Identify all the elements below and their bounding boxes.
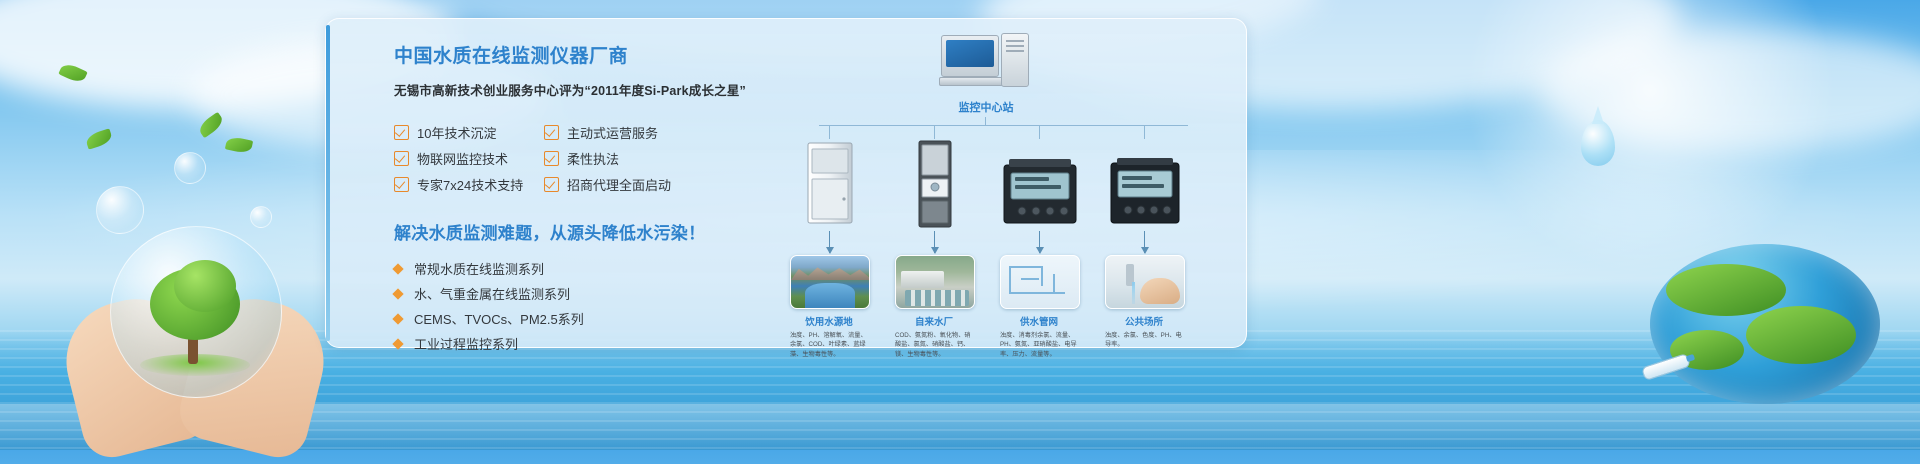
controller-display-icon xyxy=(995,137,1085,229)
hero-text-column: 中国水质在线监测仪器厂商 无锡市高新技术创业服务中心评为“2011年度Si-Pa… xyxy=(394,41,814,356)
down-arrow-icon xyxy=(1144,231,1145,253)
cabinet-analyzer-icon xyxy=(785,137,875,229)
feature-item: 专家7x24技术支持 xyxy=(394,171,544,197)
feature-label: 招商代理全面启动 xyxy=(567,175,671,194)
landmass-shape xyxy=(1746,306,1856,364)
checkbox-checked-icon xyxy=(394,177,409,192)
product-label: 水、气重金属在线监测系列 xyxy=(414,284,570,303)
feature-item: 10年技术沉淀 xyxy=(394,119,544,145)
scenario-parameters: COD、氨氮粉、氧化物、硝酸盐、氯氮、硝酸盐、钙、镁、生物毒性等。 xyxy=(895,331,973,359)
feature-label: 物联网监控技术 xyxy=(417,149,508,168)
product-item[interactable]: 水、气重金属在线监测系列 xyxy=(394,281,814,306)
hero-subtitle: 无锡市高新技术创业服务中心评为“2011年度Si-Park成长之星” xyxy=(394,80,814,99)
scenario-parameters: 浊度、PH、溶解氧、流量、余氯、COD、叶绿素、蓝绿藻、生物毒性等。 xyxy=(790,331,868,359)
product-item[interactable]: 工业过程监控系列 xyxy=(394,331,814,356)
bubble-shape xyxy=(250,206,272,228)
product-item[interactable]: 常规水质在线监测系列 xyxy=(394,256,814,281)
controller-panel-icon xyxy=(1100,137,1190,229)
feature-item: 物联网监控技术 xyxy=(394,145,544,171)
diamond-bullet-icon xyxy=(392,263,403,274)
checkbox-checked-icon xyxy=(394,151,409,166)
product-label: 常规水质在线监测系列 xyxy=(414,259,544,278)
scenario-label: 饮用水源地 xyxy=(790,314,868,328)
down-arrow-icon xyxy=(934,231,935,253)
rack-analyzer-icon xyxy=(890,137,980,229)
feature-item: 柔性执法 xyxy=(544,145,694,171)
public-tap-photo xyxy=(1105,255,1185,309)
checkbox-checked-icon xyxy=(544,177,559,192)
panel-accent-bar xyxy=(326,25,330,341)
scenario-label: 供水管网 xyxy=(1000,314,1078,328)
scenario-label: 公共场所 xyxy=(1105,314,1183,328)
green-earth-illustration xyxy=(1650,244,1880,404)
monitoring-system-diagram: 监控中心站 xyxy=(781,33,1226,343)
product-list: 常规水质在线监测系列 水、气重金属在线监测系列 CEMS、TVOCs、PM2.5… xyxy=(394,256,814,356)
hero-panel: 中国水质在线监测仪器厂商 无锡市高新技术创业服务中心评为“2011年度Si-Pa… xyxy=(325,18,1247,348)
computer-workstation-icon xyxy=(941,35,1033,89)
feature-item: 主动式运营服务 xyxy=(544,119,694,145)
tree-foliage-top xyxy=(174,260,236,312)
checkbox-checked-icon xyxy=(544,125,559,140)
feature-item: 招商代理全面启动 xyxy=(544,171,694,197)
diamond-bullet-icon xyxy=(392,338,403,349)
drinking-water-source-photo xyxy=(790,255,870,309)
feature-checklist: 10年技术沉淀 主动式运营服务 物联网监控技术 柔性执法 专家7x24技术支持 … xyxy=(394,119,694,197)
scenario-card[interactable]: 公共场所 浊度、余氯、色度、PH、电导率。 xyxy=(1105,255,1183,350)
keyboard-shape xyxy=(939,77,1003,86)
product-item[interactable]: CEMS、TVOCs、PM2.5系列 xyxy=(394,306,814,331)
water-plant-photo xyxy=(895,255,975,309)
feature-label: 主动式运营服务 xyxy=(567,123,658,142)
product-label: CEMS、TVOCs、PM2.5系列 xyxy=(414,309,584,328)
page-title: 中国水质在线监测仪器厂商 xyxy=(394,41,814,68)
scenario-card[interactable]: 饮用水源地 浊度、PH、溶解氧、流量、余氯、COD、叶绿素、蓝绿藻、生物毒性等。 xyxy=(790,255,868,359)
product-label: 工业过程监控系列 xyxy=(414,334,518,353)
down-arrow-icon xyxy=(829,231,830,253)
feature-label: 柔性执法 xyxy=(567,149,619,168)
bubble-shape xyxy=(174,152,206,184)
pipe-network-diagram-photo xyxy=(1000,255,1080,309)
landmass-shape xyxy=(1666,264,1786,316)
scenario-card[interactable]: 供水管网 浊度、消毒剂余氯、流量、PH、氨氮、亚硝酸盐、电导率、压力、流量等。 xyxy=(1000,255,1078,359)
hand-under-tap xyxy=(1140,278,1180,304)
checkbox-checked-icon xyxy=(544,151,559,166)
water-droplet-icon xyxy=(1581,120,1615,166)
hands-holding-tree-illustration xyxy=(70,250,320,450)
checkbox-checked-icon xyxy=(394,125,409,140)
bubble-shape xyxy=(96,186,144,234)
section-headline: 解决水质监测难题，从源头降低水污染！ xyxy=(394,219,814,244)
diagram-bus-line xyxy=(819,125,1188,126)
feature-label: 10年技术沉淀 xyxy=(417,123,496,142)
feature-label: 专家7x24技术支持 xyxy=(417,175,523,194)
scenario-parameters: 浊度、消毒剂余氯、流量、PH、氨氮、亚硝酸盐、电导率、压力、流量等。 xyxy=(1000,331,1078,359)
scenario-card[interactable]: 自来水厂 COD、氨氮粉、氧化物、硝酸盐、氯氮、硝酸盐、钙、镁、生物毒性等。 xyxy=(895,255,973,359)
scenario-parameters: 浊度、余氯、色度、PH、电导率。 xyxy=(1105,331,1183,350)
scenario-label: 自来水厂 xyxy=(895,314,973,328)
down-arrow-icon xyxy=(1039,231,1040,253)
monitor-shape xyxy=(941,35,999,77)
diamond-bullet-icon xyxy=(392,313,403,324)
center-station-label: 监控中心站 xyxy=(901,99,1071,115)
monitor-screen xyxy=(946,40,994,67)
diamond-bullet-icon xyxy=(392,288,403,299)
pc-tower-shape xyxy=(1001,33,1029,87)
